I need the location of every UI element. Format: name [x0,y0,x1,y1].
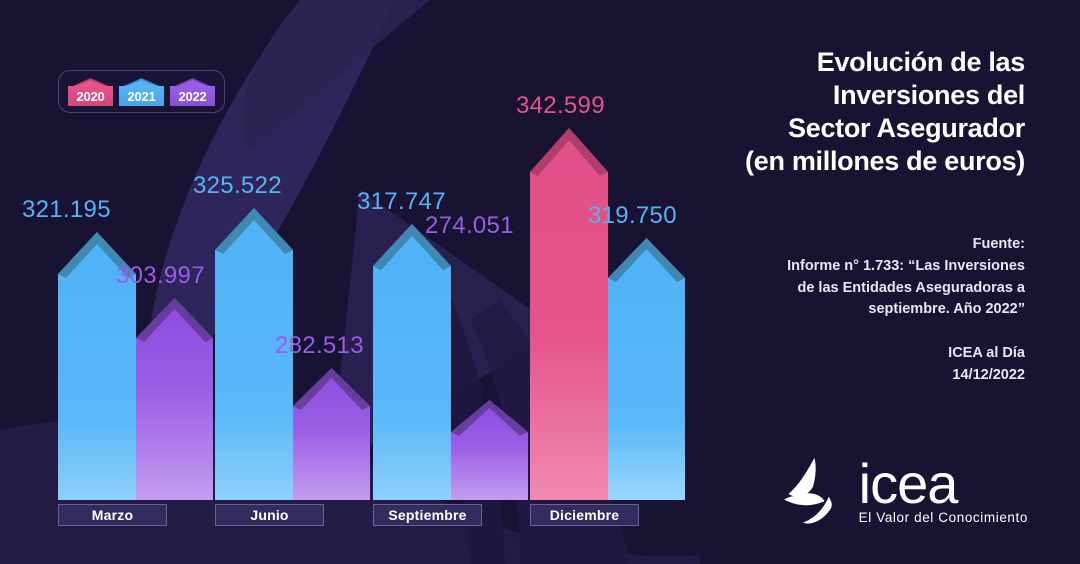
page-title: Evolución de las Inversiones del Sector … [725,46,1025,178]
source-line-3: de las Entidades Aseguradoras a [725,278,1025,300]
icea-propeller-icon [777,455,849,527]
infographic-stage: 2020 2021 2022 [0,0,1080,564]
axis-label-junio: Junio [215,504,324,526]
axis-label-septiembre: Septiembre [373,504,482,526]
icea-wordmark: icea El Valor del Conocimiento [859,455,1028,525]
bar-value-marzo-2022: 303.997 [116,262,205,290]
bar-group-septiembre: 317.747 274.051 [373,30,528,500]
right-panel: Evolución de las Inversiones del Sector … [700,0,1080,564]
bar-marzo-2022[interactable] [136,298,213,500]
bar-septiembre-2021[interactable] [373,224,451,500]
bar-junio-2022[interactable] [293,368,370,500]
bar-diciembre-2020[interactable] [530,128,608,500]
axis-label-diciembre: Diciembre [530,504,639,526]
source-line-4: septiembre. Año 2022” [725,299,1025,321]
bar-value-diciembre-2020: 342.599 [516,92,605,120]
source-line-1: Fuente: [725,234,1025,256]
icea-logo: icea El Valor del Conocimiento [777,455,1028,527]
title-line-4: (en millones de euros) [725,145,1025,178]
title-line-2: Inversiones del [725,79,1025,112]
title-line-1: Evolución de las [725,46,1025,79]
bar-group-marzo: 321.195 303.997 [58,30,213,500]
bar-value-junio-2022: 282.513 [275,332,364,360]
publication-note: ICEA al Día 14/12/2022 [725,343,1025,387]
bar-septiembre-2022[interactable] [451,400,528,500]
bar-value-marzo-2021: 321.195 [22,196,111,224]
axis-label-marzo: Marzo [58,504,167,526]
source-line-2: Informe n° 1.733: “Las Inversiones [725,256,1025,278]
title-line-3: Sector Asegurador [725,112,1025,145]
icea-word: icea [859,461,1028,507]
bar-value-septiembre-2022: 274.051 [425,212,514,240]
publication-name: ICEA al Día [725,343,1025,365]
publication-date: 14/12/2022 [725,365,1025,387]
bar-group-diciembre: 342.599 319.750 [530,30,685,500]
bar-value-junio-2021: 325.522 [193,172,282,200]
icea-tagline: El Valor del Conocimiento [859,510,1028,525]
chart-area: 2020 2021 2022 [0,0,700,564]
bar-value-diciembre-2021: 319.750 [588,202,677,230]
bar-group-junio: 325.522 282.513 [215,30,370,500]
source-note: Fuente: Informe n° 1.733: “Las Inversion… [725,234,1025,321]
bar-groups: 321.195 303.997 Marzo [0,0,700,564]
bar-diciembre-2021[interactable] [608,238,685,500]
